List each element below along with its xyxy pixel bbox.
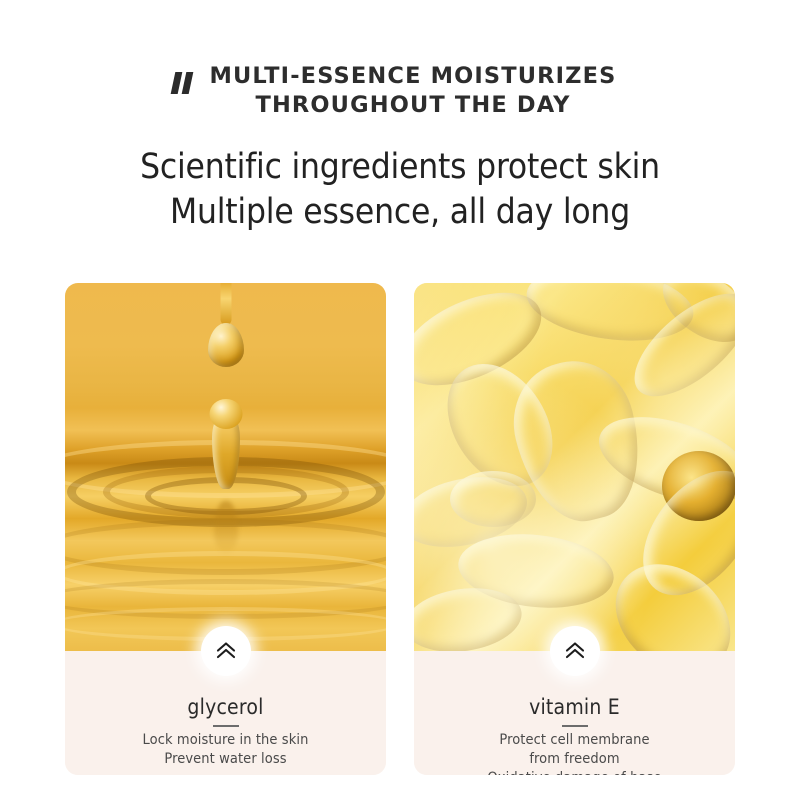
title-divider	[562, 725, 588, 727]
oil-stream	[220, 283, 231, 325]
eyebrow-row: MULTI-ESSENCE MOISTURIZES THROUGHOUT THE…	[0, 62, 800, 120]
header-block: MULTI-ESSENCE MOISTURIZES THROUGHOUT THE…	[0, 62, 800, 258]
ingredient-card-glycerol[interactable]: glycerol Lock moisture in the skin Preve…	[65, 283, 386, 775]
vitamin-e-caption: vitamin E Protect cell membrane from fre…	[414, 651, 735, 775]
vitamin-e-photo	[414, 283, 735, 651]
softgel-capsules-image	[414, 283, 735, 651]
title-divider	[213, 725, 239, 727]
quotation-mark-icon	[172, 72, 198, 96]
falling-oil-droplet	[208, 323, 244, 367]
card-description: Protect cell membrane from freedom Oxida…	[414, 731, 735, 775]
glycerol-caption: glycerol Lock moisture in the skin Preve…	[65, 651, 386, 775]
double-chevron-up-icon[interactable]	[550, 626, 600, 676]
glycerol-photo	[65, 283, 386, 651]
eyebrow-heading: MULTI-ESSENCE MOISTURIZES THROUGHOUT THE…	[0, 62, 800, 120]
ingredient-card-vitamin-e[interactable]: vitamin E Protect cell membrane from fre…	[414, 283, 735, 775]
card-description: Lock moisture in the skin Prevent water …	[65, 731, 386, 769]
golden-oil-image	[65, 283, 386, 651]
ingredient-card-list: glycerol Lock moisture in the skin Preve…	[65, 283, 735, 775]
page-title: Scientific ingredients protect skin Mult…	[0, 145, 800, 235]
double-chevron-up-icon[interactable]	[201, 626, 251, 676]
